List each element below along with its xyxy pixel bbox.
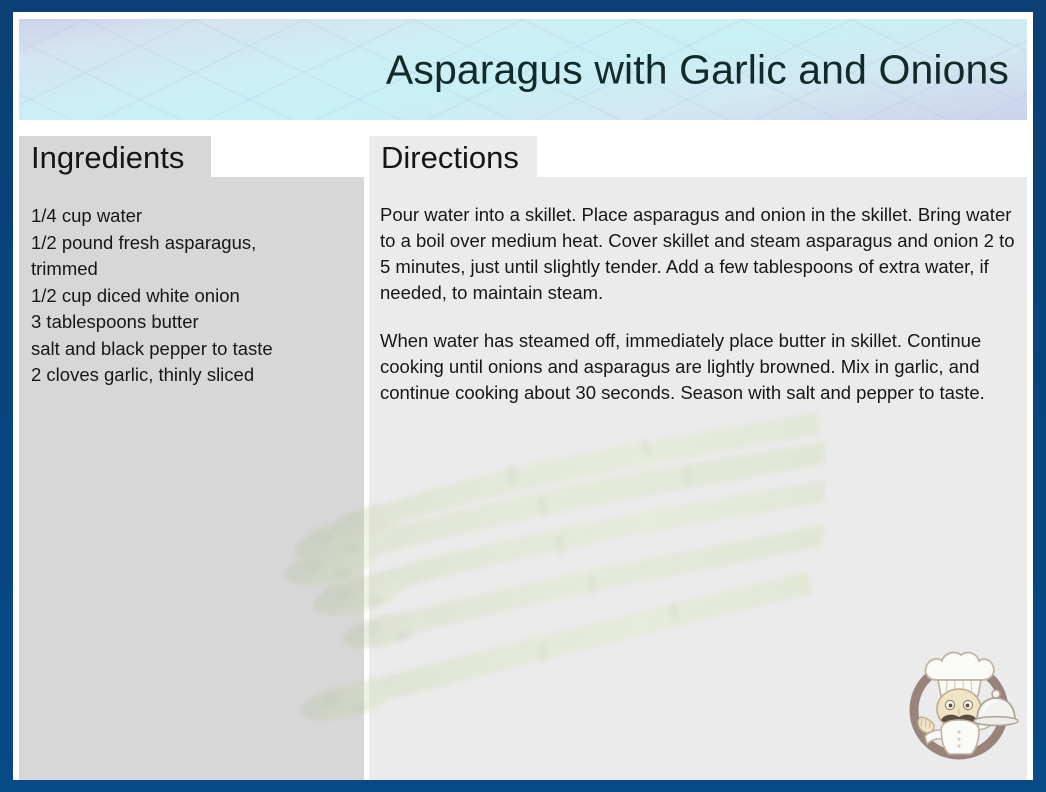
ingredient-line: salt and black pepper to taste: [31, 336, 351, 363]
chef-logo: [897, 644, 1021, 764]
page-title: Asparagus with Garlic and Onions: [386, 46, 1009, 93]
ingredient-line: 1/2 cup diced white onion: [31, 283, 351, 310]
directions-body: Pour water into a skillet. Place asparag…: [380, 202, 1020, 406]
ingredients-heading: Ingredients: [31, 140, 184, 176]
ingredients-list: 1/4 cup water1/2 pound fresh asparagus,t…: [31, 203, 351, 389]
ingredient-line: 1/4 cup water: [31, 203, 351, 230]
direction-paragraph: When water has steamed off, immediately …: [380, 328, 1020, 406]
direction-paragraph: Pour water into a skillet. Place asparag…: [380, 202, 1020, 306]
ingredient-line: 1/2 pound fresh asparagus,: [31, 230, 351, 257]
title-banner: Asparagus with Garlic and Onions: [19, 19, 1027, 120]
page-surface: Asparagus with Garlic and Onions Ingredi…: [13, 12, 1033, 780]
ingredient-line: 2 cloves garlic, thinly sliced: [31, 362, 351, 389]
recipe-card: Asparagus with Garlic and Onions Ingredi…: [0, 0, 1046, 792]
ingredient-line: trimmed: [31, 256, 351, 283]
directions-heading: Directions: [381, 140, 519, 176]
ingredient-line: 3 tablespoons butter: [31, 309, 351, 336]
